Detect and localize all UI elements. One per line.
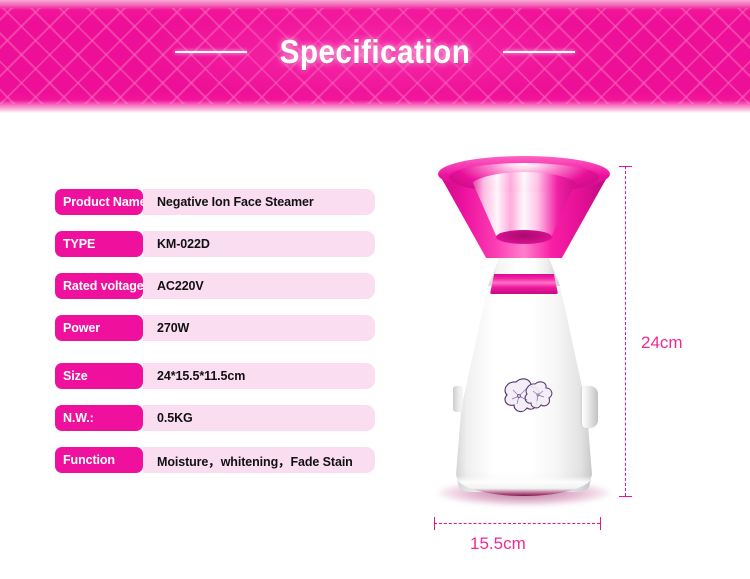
table-row: Rated voltage AC220V: [55, 273, 375, 299]
spec-label-net-weight: N.W.:: [55, 405, 143, 431]
product-side-button: [582, 386, 598, 428]
table-row: Size 24*15.5*11.5cm: [55, 363, 375, 389]
spec-value-power: 270W: [143, 315, 375, 341]
spec-value-function: Moisture，whitening，Fade Stain: [143, 447, 375, 473]
product-steam-outlet: [496, 230, 552, 244]
product-image: [420, 150, 630, 520]
height-tick-top: [619, 166, 632, 167]
table-row: Product Name Negative Ion Face Steamer: [55, 189, 375, 215]
product-band-ring: [490, 274, 558, 294]
width-dimension-label: 15.5cm: [470, 534, 526, 554]
specification-banner: Specification: [0, 0, 750, 113]
spec-value-type: KM-022D: [143, 231, 375, 257]
width-dimension-line: [434, 523, 600, 524]
product-left-vent: [453, 386, 463, 412]
height-dimension-line: [625, 166, 626, 496]
page-title: Specification: [280, 33, 471, 71]
spec-value-net-weight: 0.5KG: [143, 405, 375, 431]
flower-decal-icon: [486, 372, 556, 416]
spec-label-rated-voltage: Rated voltage: [55, 273, 143, 299]
height-tick-bottom: [619, 496, 632, 497]
table-row: Power 270W: [55, 315, 375, 341]
spec-label-type: TYPE: [55, 231, 143, 257]
height-dimension-label: 24cm: [641, 333, 683, 353]
banner-rule-left: [175, 51, 247, 53]
spec-label-product-name: Product Name: [55, 189, 143, 215]
table-row: N.W.: 0.5KG: [55, 405, 375, 431]
spec-label-power: Power: [55, 315, 143, 341]
spec-value-rated-voltage: AC220V: [143, 273, 375, 299]
spec-value-product-name: Negative Ion Face Steamer: [143, 189, 375, 215]
spec-label-function: Function: [55, 447, 143, 473]
width-tick-left: [434, 517, 435, 530]
banner-rule-right: [503, 51, 575, 53]
table-row: TYPE KM-022D: [55, 231, 375, 257]
banner-content: Specification: [0, 0, 750, 104]
spec-value-size: 24*15.5*11.5cm: [143, 363, 375, 389]
spec-label-size: Size: [55, 363, 143, 389]
table-row: Function Moisture，whitening，Fade Stain: [55, 447, 375, 473]
specification-table: Product Name Negative Ion Face Steamer T…: [55, 189, 375, 489]
width-tick-right: [600, 517, 601, 530]
